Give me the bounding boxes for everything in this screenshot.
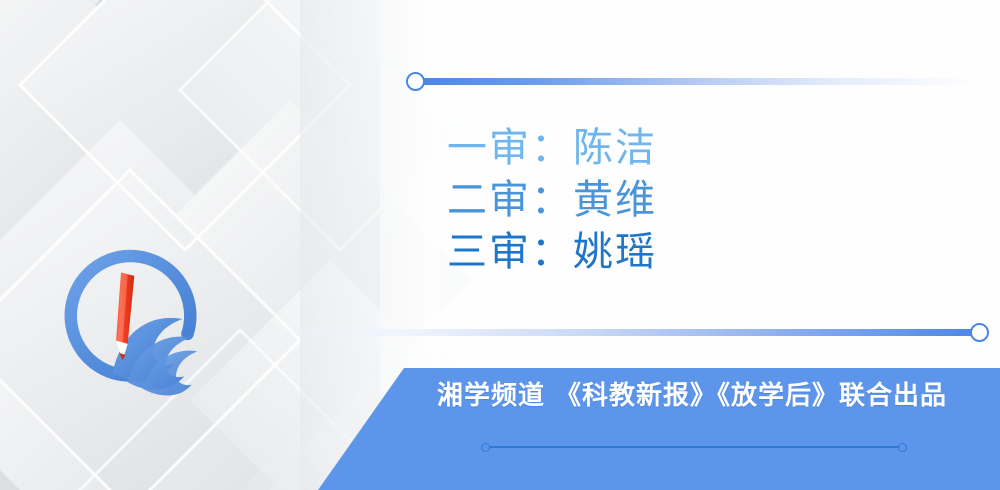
banner-credit-text: 湘学频道 《科教新报》《放学后》联合出品: [437, 375, 947, 412]
banner-inner-dot-right: [898, 443, 907, 452]
top-connector-line: [420, 78, 975, 85]
banner-inner-line: [489, 446, 903, 448]
credit-line-first-review: 一审：陈洁: [447, 122, 657, 174]
top-connector-dot: [406, 72, 425, 91]
bottom-connector-line: [255, 329, 980, 336]
credit-line-third-review: 三审：姚瑶: [447, 226, 657, 278]
audit-credits-block: 一审：陈洁 二审：黄维 三审：姚瑶: [447, 122, 657, 278]
promo-card: 湘学频道 《科教新报》《放学后》联合出品 一审：陈洁 二审：黄维 三审：姚瑶: [0, 0, 1000, 490]
education-channel-logo: [48, 236, 214, 402]
credit-line-second-review: 二审：黄维: [447, 174, 657, 226]
bottom-connector-dot: [970, 323, 989, 342]
banner-inner-dot-left: [481, 443, 490, 452]
